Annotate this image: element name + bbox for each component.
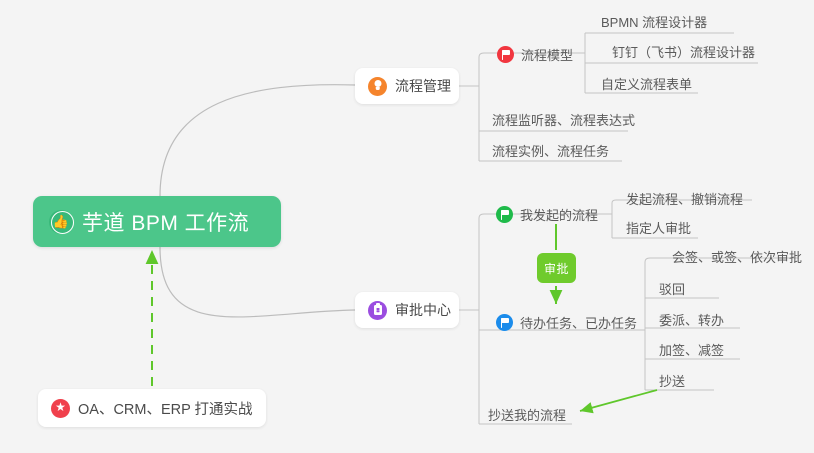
node-my-initiated-flow[interactable]: 我发起的流程 — [496, 205, 598, 228]
flag-icon — [496, 206, 513, 223]
lightbulb-icon — [368, 77, 387, 96]
edge-cc-to-cc-my-flow — [580, 390, 657, 411]
flag-icon — [497, 46, 514, 63]
node-process-instance-task[interactable]: 流程实例、流程任务 — [492, 141, 609, 164]
node-oa-crm-erp-integration-label: OA、CRM、ERP 打通实战 — [78, 398, 253, 419]
branch-node-approval-center[interactable]: 审批中心 — [355, 292, 459, 328]
branch-label-approval-center: 审批中心 — [395, 300, 451, 320]
flag-icon — [496, 314, 513, 331]
node-start-cancel-flow[interactable]: 发起流程、撤销流程 — [626, 189, 743, 212]
node-bpmn-designer[interactable]: BPMN 流程设计器 — [601, 12, 707, 35]
node-todo-done-task[interactable]: 待办任务、已办任务 — [496, 313, 637, 336]
root-label: 芋道 BPM 工作流 — [82, 207, 249, 237]
mindmap-canvas: 芋道 BPM 工作流 流程管理 流程模型 BPMN 流程设计器 钉钉（飞书）流程… — [0, 0, 814, 453]
star-icon — [51, 399, 70, 418]
root-node[interactable]: 芋道 BPM 工作流 — [33, 196, 281, 247]
node-add-remove-sign[interactable]: 加签、减签 — [659, 340, 724, 363]
thumbs-up-icon — [49, 210, 73, 234]
node-dingtalk-feishu-designer[interactable]: 钉钉（飞书）流程设计器 — [612, 42, 755, 65]
node-process-model-label: 流程模型 — [521, 45, 573, 64]
node-cc[interactable]: 抄送 — [659, 371, 685, 394]
node-process-listener-expression[interactable]: 流程监听器、流程表达式 — [492, 110, 635, 133]
node-oa-crm-erp-integration[interactable]: OA、CRM、ERP 打通实战 — [38, 389, 266, 427]
node-my-initiated-flow-label: 我发起的流程 — [520, 205, 598, 224]
node-assignee-approval[interactable]: 指定人审批 — [626, 218, 691, 241]
clipboard-icon — [368, 301, 387, 320]
edge-root-to-approval-center — [160, 247, 355, 317]
branch-node-process-management[interactable]: 流程管理 — [355, 68, 459, 104]
edge-root-to-process-management — [160, 85, 355, 196]
node-reject[interactable]: 驳回 — [659, 279, 685, 302]
approve-badge: 审批 — [537, 253, 576, 283]
node-custom-form[interactable]: 自定义流程表单 — [601, 74, 692, 97]
node-process-model[interactable]: 流程模型 — [497, 45, 573, 68]
node-countersign-orsign-sequential[interactable]: 会签、或签、依次审批 — [672, 247, 802, 270]
node-cc-my-flow[interactable]: 抄送我的流程 — [488, 405, 566, 428]
branch-label-process-management: 流程管理 — [395, 76, 451, 96]
node-delegate-transfer[interactable]: 委派、转办 — [659, 310, 724, 333]
node-todo-done-task-label: 待办任务、已办任务 — [520, 313, 637, 332]
